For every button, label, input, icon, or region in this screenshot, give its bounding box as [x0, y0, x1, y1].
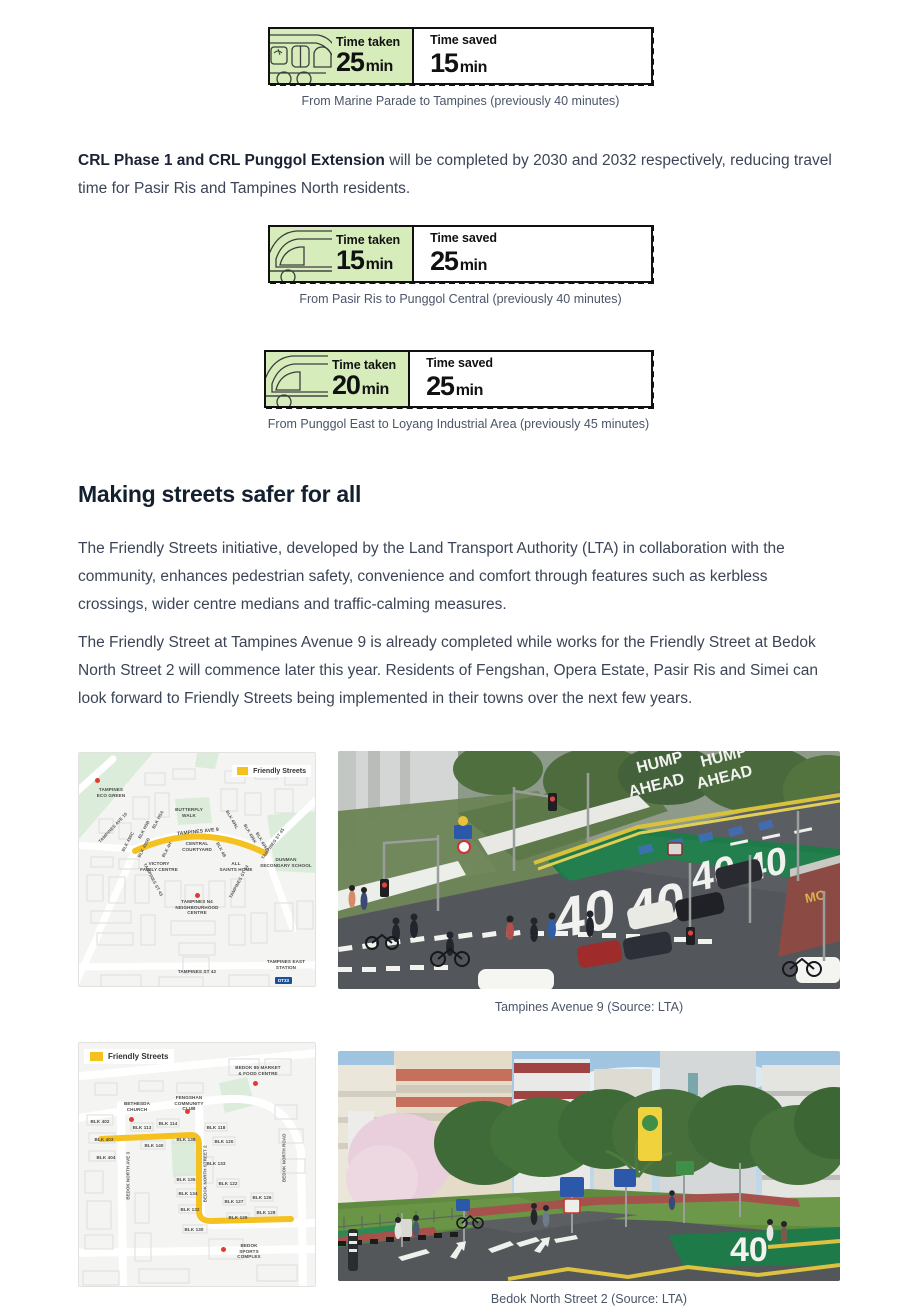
map-label-blk-140: BLK 140: [141, 1143, 167, 1149]
time-taken-panel: Time taken 15min: [270, 227, 414, 281]
time-box: Time taken 25min Time saved 15min: [268, 27, 653, 85]
map-label-tampines-eco-green: TAMPINES ECO GREEN: [79, 787, 143, 798]
legend-label: Friendly Streets: [253, 768, 306, 775]
train-icon: [266, 352, 328, 406]
time-taken-value: 25min: [336, 49, 400, 76]
time-taken-value: 20min: [332, 372, 396, 399]
map-tampines-wrapper: Friendly Streets TAMPINES ECO GREEN TAMP…: [78, 752, 316, 987]
poi-dot: [221, 1247, 226, 1252]
saved-number: 25: [426, 371, 454, 401]
map-label-blk-135: BLK 135: [173, 1177, 199, 1183]
photo-caption-tampines: Tampines Avenue 9 (Source: LTA): [338, 1000, 840, 1014]
time-saved-value: 25min: [430, 246, 635, 277]
saved-number: 25: [430, 246, 458, 276]
map-bedok[interactable]: Friendly Streets BEDOK 85 MARKET & FOOD …: [78, 1042, 316, 1287]
poi-dot: [185, 1109, 190, 1114]
time-saved-label: Time saved: [430, 33, 635, 47]
photo-tampines-avenue-9[interactable]: 40 40 40 40 HUMP HUMP AHEAD AHEAD: [338, 751, 840, 989]
map-label-tampines-st-42: TAMPINES ST 42: [165, 969, 229, 975]
map-label-blk-138: BLK 138: [173, 1137, 199, 1143]
taken-number: 15: [336, 245, 364, 275]
map-label-blk-132: BLK 132: [177, 1207, 203, 1213]
time-figure-punggol-east: Time taken 20min Time saved 25min From P…: [264, 350, 653, 431]
taken-number: 25: [336, 47, 364, 77]
map-label-blk-122: BLK 122: [215, 1181, 241, 1187]
saved-unit: min: [460, 257, 487, 274]
map-label-blk-402: BLK 402: [87, 1119, 113, 1125]
map-tampines[interactable]: Friendly Streets TAMPINES ECO GREEN TAMP…: [78, 752, 316, 987]
photo-tampines-wrapper: 40 40 40 40 HUMP HUMP AHEAD AHEAD: [338, 751, 840, 1014]
map-label-bethesda-church: BETHESDA CHURCH: [111, 1101, 163, 1112]
time-taken-text: Time taken 20min: [328, 359, 408, 400]
figure-caption: From Pasir Ris to Punggol Central (previ…: [268, 292, 653, 306]
map-label-butterfly-walk: BUTTERFLY WALK: [163, 807, 215, 818]
map-label-bedok-north-road: BEDOK NORTH ROAD: [281, 1125, 287, 1191]
map-label-bedok-north-ave-3: BEDOK NORTH AVE 3: [125, 1143, 131, 1209]
map-label-victory-family-centre: VICTORY FAMILY CENTRE: [131, 861, 187, 872]
mrt-station-badge: DT33: [275, 977, 292, 984]
map-label-blk-403: BLK 403: [91, 1137, 117, 1143]
map-label-blk-113: BLK 113: [129, 1125, 155, 1131]
map-legend-bedok: Friendly Streets: [84, 1049, 174, 1064]
time-figure-marine-parade: Time taken 25min Time saved 15min From M…: [268, 27, 653, 108]
map-legend-tampines: Friendly Streets: [232, 765, 311, 777]
saved-unit: min: [460, 59, 487, 76]
taken-unit: min: [366, 58, 393, 75]
time-saved-value: 25min: [426, 371, 635, 402]
map-label-blk-129: BLK 129: [225, 1215, 251, 1221]
poi-dot: [195, 893, 200, 898]
legend-swatch-icon: [237, 767, 248, 775]
map-label-tampines-east-station: TAMPINES EAST STATION: [257, 959, 315, 970]
figure-caption: From Punggol East to Loyang Industrial A…: [264, 417, 653, 431]
legend-label: Friendly Streets: [108, 1052, 168, 1061]
time-taken-text: Time taken 25min: [332, 36, 412, 77]
map-label-blk-118: BLK 118: [203, 1125, 229, 1131]
figure-caption: From Marine Parade to Tampines (previous…: [268, 94, 653, 108]
photo-caption-bedok: Bedok North Street 2 (Source: LTA): [338, 1292, 840, 1306]
photo-bedok-wrapper: 40: [338, 1051, 840, 1306]
taken-unit: min: [366, 256, 393, 273]
time-saved-label: Time saved: [430, 231, 635, 245]
paragraph-crl: CRL Phase 1 and CRL Punggol Extension wi…: [78, 147, 838, 203]
map-label-tampines-n4: TAMPINES N4 NEIGHBOURHOOD CENTRE: [165, 899, 229, 916]
paragraph-crl-bold: CRL Phase 1 and CRL Punggol Extension: [78, 152, 385, 169]
map-label-blk-120: BLK 120: [211, 1139, 237, 1145]
svg-text:40: 40: [730, 1231, 768, 1269]
photo-bedok-graphic: 40: [338, 1051, 840, 1281]
time-saved-panel: Time saved 15min: [414, 29, 651, 83]
saved-unit: min: [456, 382, 483, 399]
time-saved-panel: Time saved 25min: [410, 352, 651, 406]
time-taken-panel: Time taken 20min: [266, 352, 410, 406]
poi-dot: [95, 778, 100, 783]
time-saved-label: Time saved: [426, 356, 635, 370]
map-label-bedok-sports-complex: BEDOK SPORTS COMPLEX: [229, 1243, 269, 1260]
time-saved-value: 15min: [430, 48, 635, 79]
map-label-bedok-north-street-2: BEDOK NORTH STREET 2: [202, 1136, 208, 1212]
map-bedok-wrapper: Friendly Streets BEDOK 85 MARKET & FOOD …: [78, 1042, 316, 1287]
taken-unit: min: [362, 381, 389, 398]
taken-number: 20: [332, 370, 360, 400]
map-label-blk-127: BLK 127: [221, 1199, 247, 1205]
photo-tampines-graphic: 40 40 40 40 HUMP HUMP AHEAD AHEAD: [338, 751, 840, 989]
time-saved-panel: Time saved 25min: [414, 227, 651, 281]
poi-dot: [253, 1081, 258, 1086]
map-label-blk-404: BLK 404: [93, 1155, 119, 1161]
paragraph-friendly-status: The Friendly Street at Tampines Avenue 9…: [78, 629, 840, 713]
time-figure-pasir-ris: Time taken 15min Time saved 25min From P…: [268, 225, 653, 306]
time-taken-value: 15min: [336, 247, 400, 274]
time-taken-text: Time taken 15min: [332, 234, 412, 275]
map-label-dunman-secondary-school: DUNMAN SECONDARY SCHOOL: [255, 857, 316, 868]
map-label-blk-128: BLK 128: [253, 1210, 279, 1216]
map-label-bedok-85-market: BEDOK 85 MARKET & FOOD CENTRE: [225, 1065, 291, 1076]
paragraph-friendly-intro: The Friendly Streets initiative, develop…: [78, 535, 840, 619]
svg-text:40: 40: [554, 876, 616, 951]
poi-dot: [129, 1117, 134, 1122]
map-label-blk-130: BLK 130: [181, 1227, 207, 1233]
time-taken-panel: Time taken 25min: [270, 29, 414, 83]
time-box: Time taken 15min Time saved 25min: [268, 225, 653, 283]
photo-bedok-north-street-2[interactable]: 40: [338, 1051, 840, 1281]
train-icon: [270, 227, 332, 281]
article-page: Time taken 25min Time saved 15min From M…: [0, 0, 916, 1316]
map-label-blk-134: BLK 134: [175, 1191, 201, 1197]
train-icon: [270, 29, 332, 83]
map-label-blk-126: BLK 126: [249, 1195, 275, 1201]
map-label-blk-114: BLK 114: [155, 1121, 181, 1127]
section-heading: Making streets safer for all: [78, 481, 361, 508]
legend-swatch-icon: [90, 1052, 103, 1061]
time-box: Time taken 20min Time saved 25min: [264, 350, 653, 408]
saved-number: 15: [430, 48, 458, 78]
